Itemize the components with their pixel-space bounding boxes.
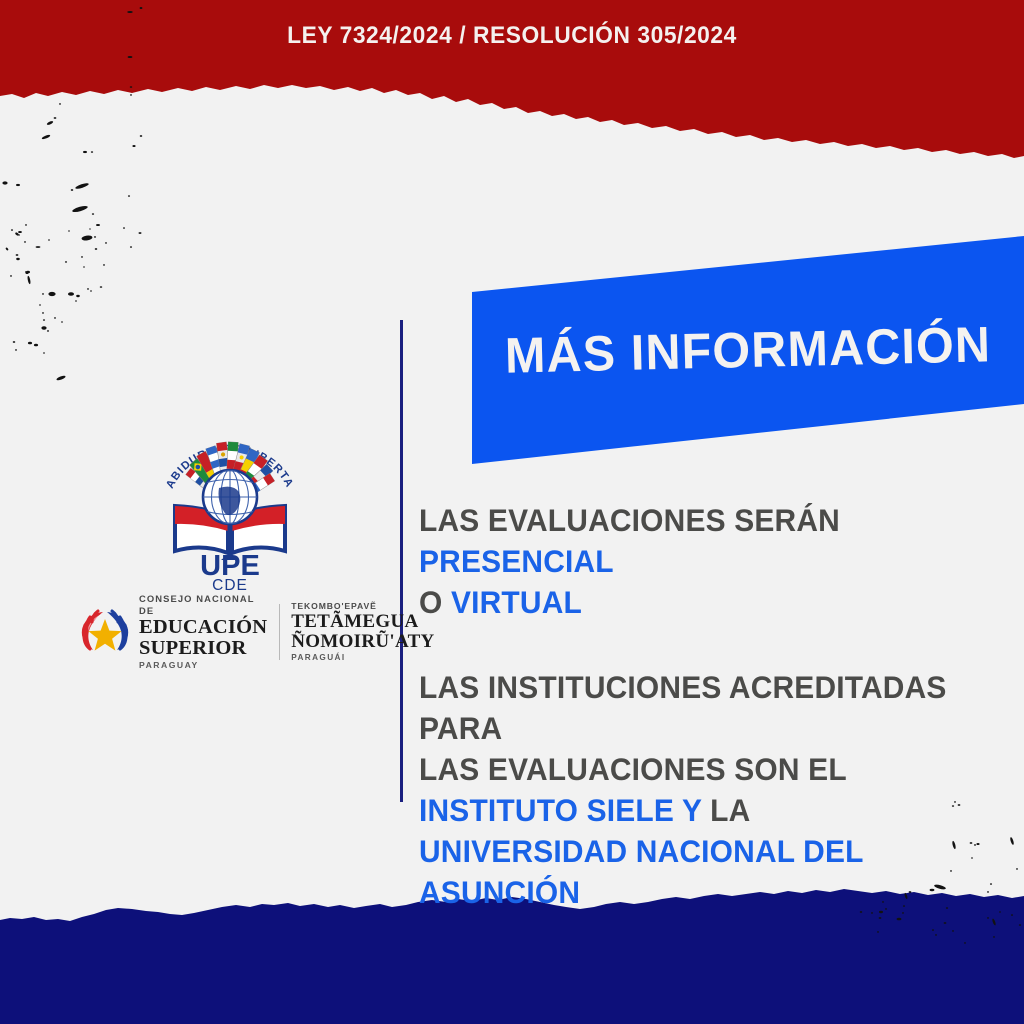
header-band: LEY 7324/2024 / RESOLUCIÓN 305/2024 (0, 0, 1024, 170)
content-divider-rule (400, 320, 403, 802)
upe-logo: SABIDURIA ES LIBERTAD (155, 424, 305, 590)
upe-globe-icon (203, 470, 257, 524)
cones-star-icon (88, 619, 121, 651)
cones-country-gn: PARAGUÁI (291, 652, 434, 664)
cones-country-es: PARAGUAY (139, 659, 267, 671)
copy-highlight: PRESENCIAL (419, 543, 614, 579)
copy-text: LAS EVALUACIONES SON EL (419, 751, 847, 787)
cones-line1-gn: TETÃMEGUA (291, 612, 434, 632)
cones-line1-es: EDUCACIÓN (139, 617, 267, 638)
copy-line: UNIVERSIDAD NACIONAL DEL ASUNCIÓN (419, 831, 961, 913)
copy-line: O VIRTUAL (419, 582, 961, 623)
poster-canvas: LEY 7324/2024 / RESOLUCIÓN 305/2024 (0, 0, 1024, 1024)
cones-emblem-icon (78, 605, 132, 659)
cones-spanish-text: CONSEJO NACIONAL DE EDUCACIÓN SUPERIOR P… (139, 593, 267, 671)
footer-band (0, 899, 1024, 1024)
upe-campus-text: CDE (212, 577, 248, 590)
upe-logo-graphic: SABIDURIA ES LIBERTAD (155, 424, 305, 590)
cones-line2-gn: ÑOMOIRŨ'ATY (291, 632, 434, 652)
cones-line2-es: SUPERIOR (139, 638, 267, 659)
copy-text: LAS EVALUACIONES SERÁN (419, 502, 840, 538)
page-title: LEY 7324/2024 / RESOLUCIÓN 305/2024 (36, 0, 988, 72)
copy-line: LAS EVALUACIONES SERÁN PRESENCIAL (419, 500, 961, 582)
copy-text: LAS INSTITUCIONES ACREDITADAS PARA (419, 669, 947, 746)
footer-band-fill (0, 944, 1024, 1024)
copy-highlight: VIRTUAL (451, 584, 582, 620)
more-info-banner: MÁS INFORMACIÓN (472, 236, 1024, 464)
cones-logo: CONSEJO NACIONAL DE EDUCACIÓN SUPERIOR P… (78, 596, 378, 668)
paragraph-gap (419, 623, 961, 667)
copy-line: LAS INSTITUCIONES ACREDITADAS PARA (419, 667, 961, 749)
body-copy: LAS EVALUACIONES SERÁN PRESENCIALO VIRTU… (419, 500, 961, 913)
copy-line: LAS EVALUACIONES SON EL (419, 749, 961, 790)
cones-kicker-es: CONSEJO NACIONAL DE (139, 593, 267, 617)
copy-text: LA (710, 792, 750, 828)
cones-divider (279, 604, 280, 660)
copy-line: INSTITUTO SIELE Y LA (419, 790, 961, 831)
cones-guarani-text: TEKOMBO'EPAVẼ TETÃMEGUA ÑOMOIRŨ'ATY PARA… (291, 600, 434, 664)
copy-highlight: INSTITUTO SIELE Y (419, 792, 710, 828)
copy-highlight: UNIVERSIDAD NACIONAL DEL ASUNCIÓN (419, 833, 863, 910)
banner-title: MÁS INFORMACIÓN (478, 230, 1019, 471)
